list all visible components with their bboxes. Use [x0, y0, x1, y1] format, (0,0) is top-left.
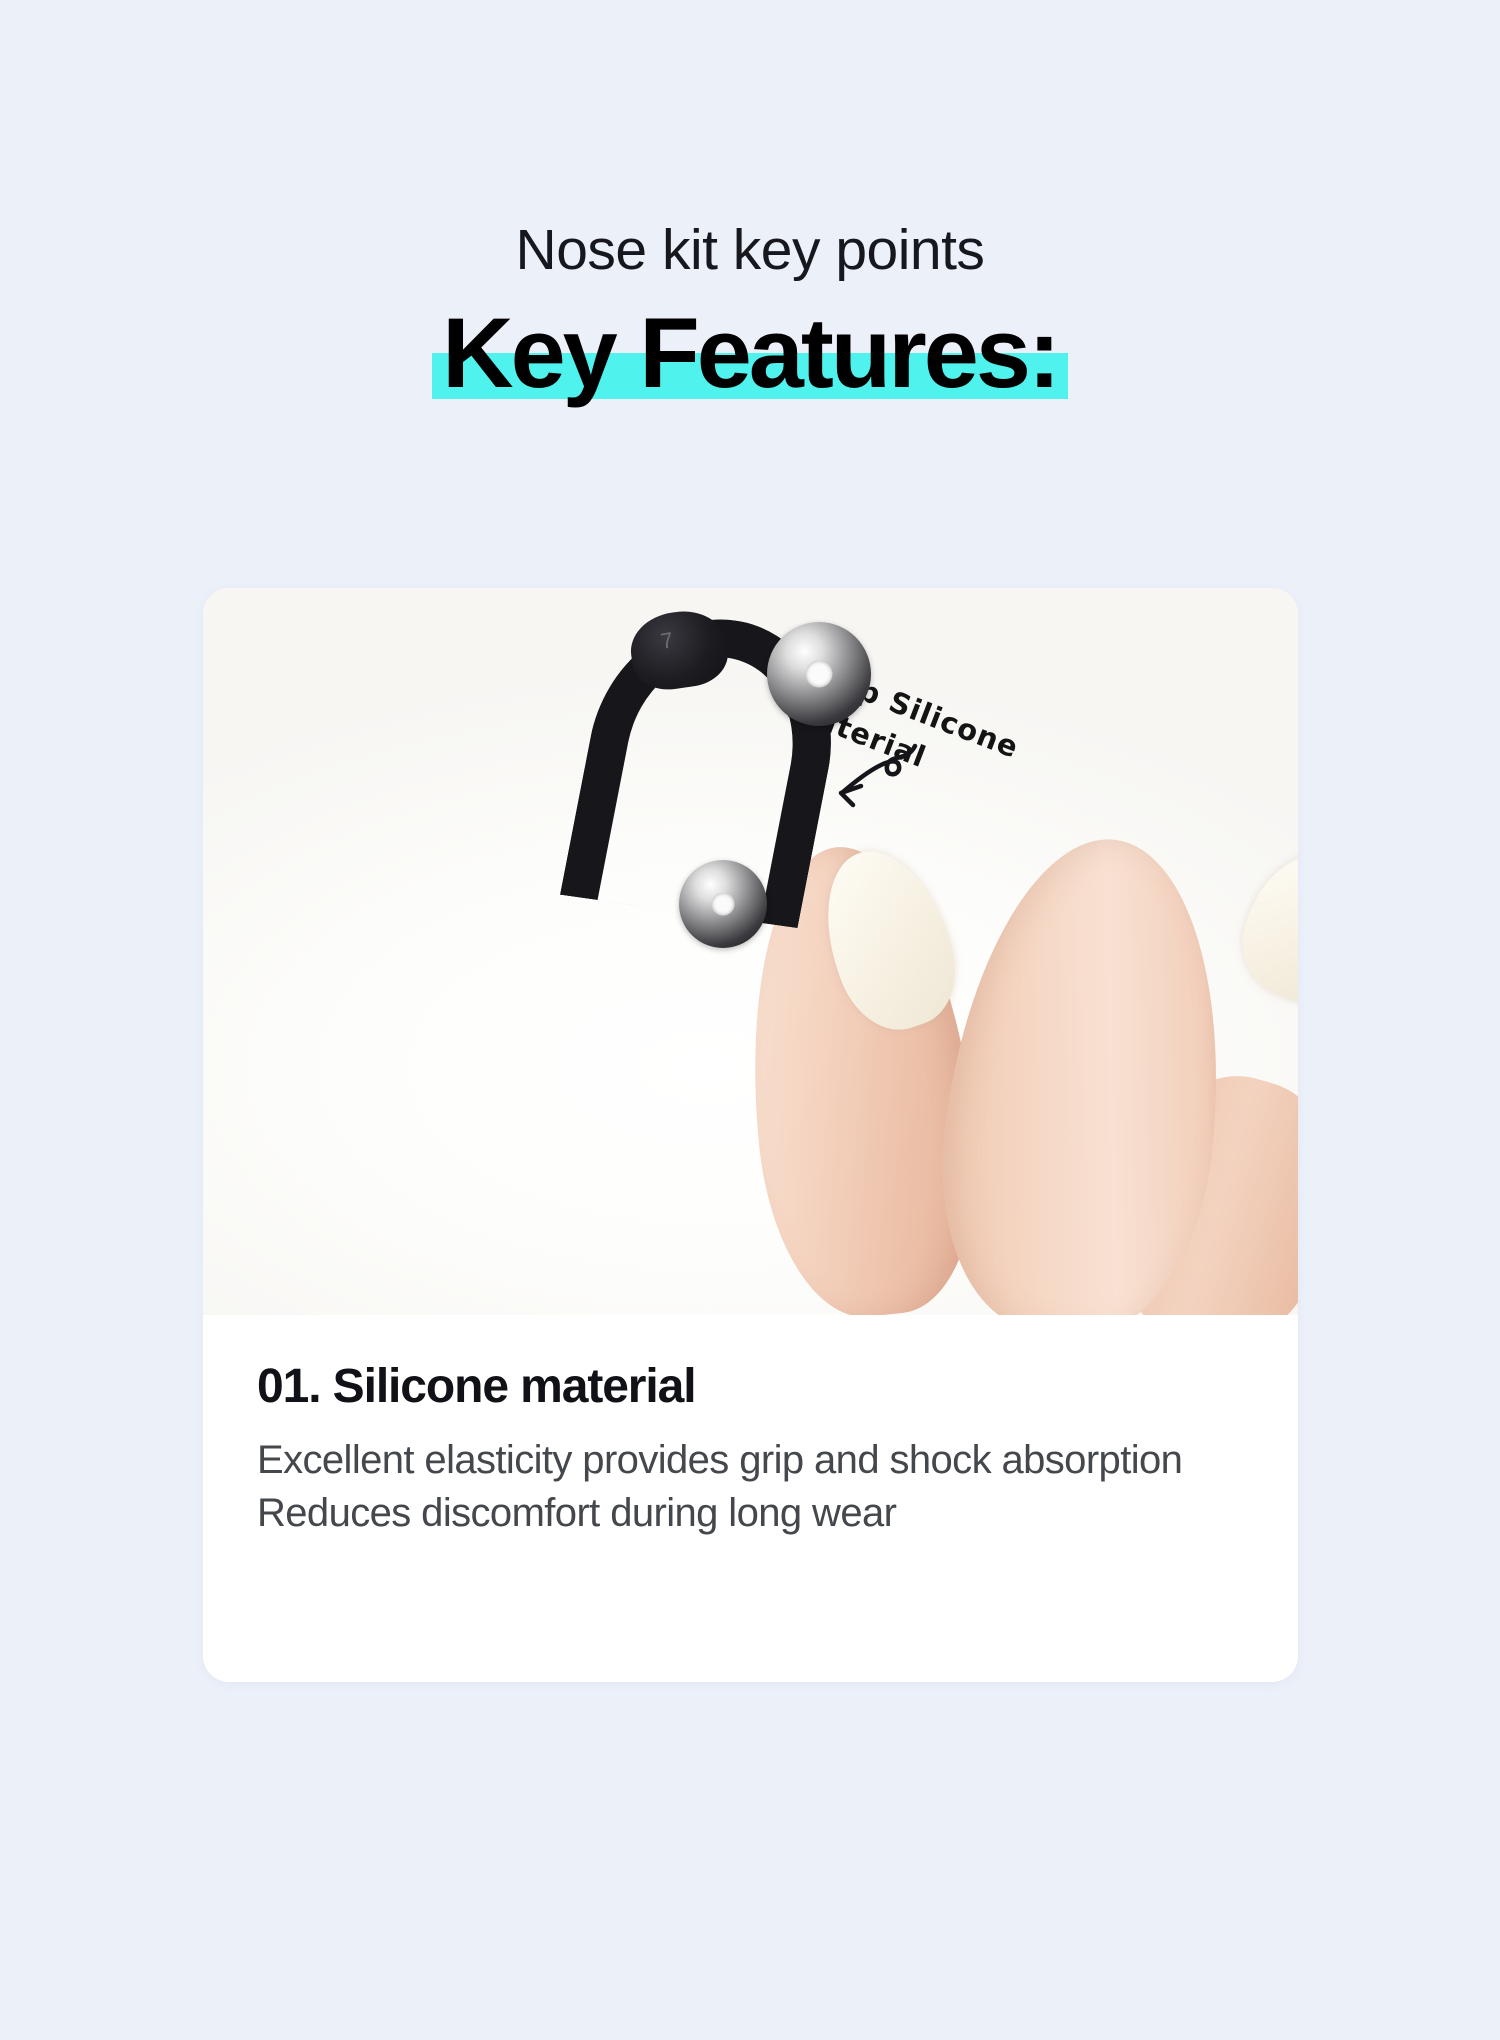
headline-group: Key Features: — [420, 301, 1080, 405]
page-title: Key Features: — [420, 297, 1080, 408]
feature-description: Excellent elasticity provides grip and s… — [257, 1434, 1197, 1540]
page-header: Nose kit key points Key Features: — [0, 0, 1500, 405]
page-eyebrow: Nose kit key points — [0, 222, 1500, 279]
nose-clip-body: 7 — [583, 610, 883, 940]
nose-clip-illustration: 7 — [503, 598, 973, 1138]
fingernail-right — [1227, 836, 1298, 1020]
feature-card-text: 01. Silicone material Excellent elastici… — [203, 1315, 1298, 1541]
silicone-pad-bottom — [679, 860, 767, 948]
product-photo: Non-Slip Silicone material 7 — [203, 588, 1298, 1315]
feature-card-01[interactable]: Non-Slip Silicone material 7 — [203, 588, 1298, 1682]
feature-title: 01. Silicone material — [257, 1359, 1244, 1414]
silicone-pad-top — [767, 622, 871, 726]
